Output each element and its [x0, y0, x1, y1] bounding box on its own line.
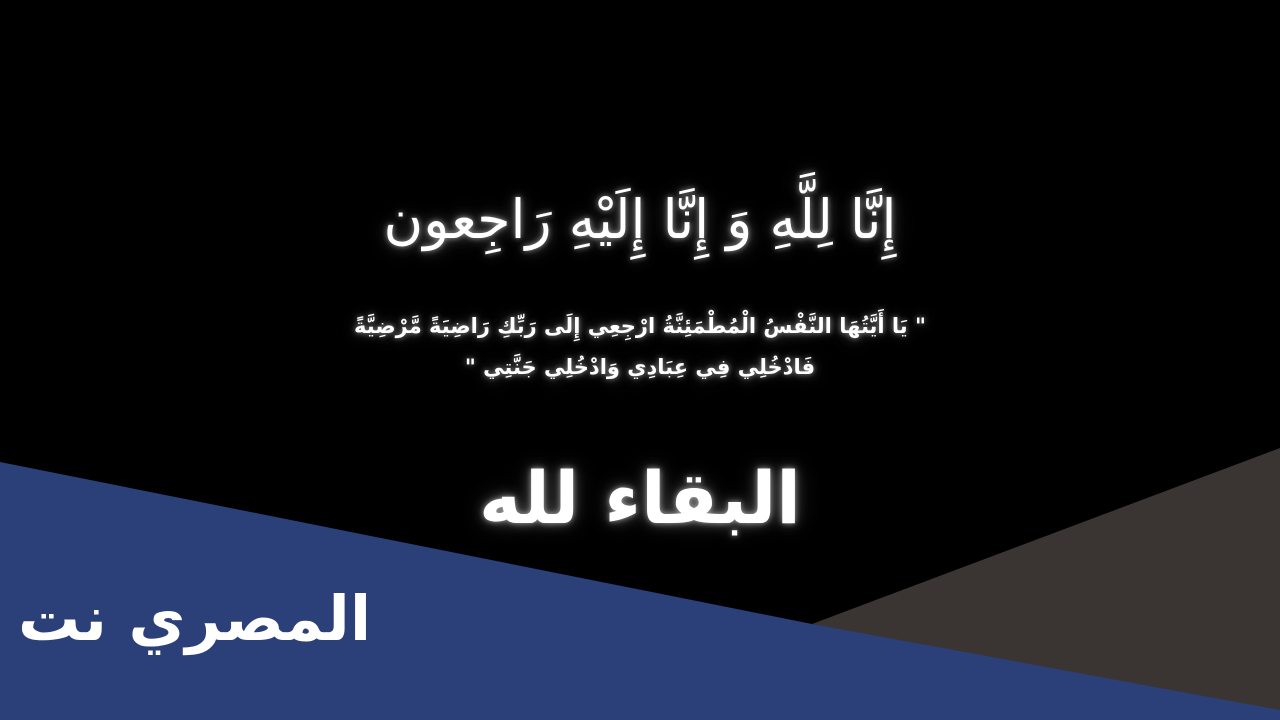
memorial-card: إِنَّا لِلَّهِ وَ إِنَّا إِلَيْهِ رَاجِع… [0, 0, 1280, 720]
site-watermark-label: المصري نت [18, 588, 371, 650]
